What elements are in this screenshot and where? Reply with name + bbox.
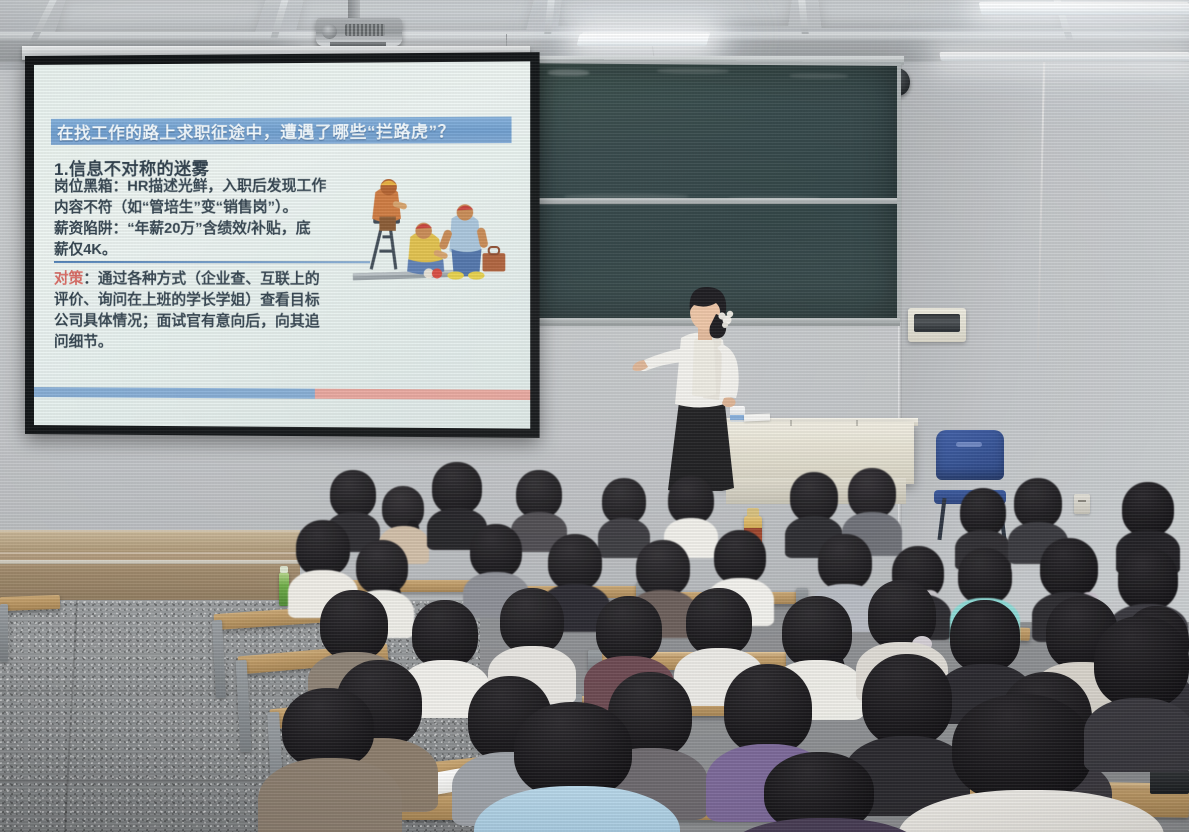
slide-counter-text: ：通过各种方式（企业查、互联上的 bbox=[83, 271, 319, 287]
projection-screen: 在找工作的路上求职征途中，遭遇了哪些“拦路虎”？ 1.信息不对称的迷雾 岗位黑箱… bbox=[25, 52, 540, 438]
lecture-hall-photo: 在找工作的路上求职征途中，遭遇了哪些“拦路虎”？ 1.信息不对称的迷雾 岗位黑箱… bbox=[0, 0, 1189, 832]
ceiling-panel bbox=[54, 0, 265, 34]
slide-title-text: 在找工作的路上求职征途中，遭遇了哪些“拦路虎”？ bbox=[51, 118, 455, 144]
blackboard bbox=[529, 59, 901, 325]
slide-body: 岗位黑箱：HR描述光鲜，入职后发现工作 内容不符（如“管培生”变“销售岗”）。 … bbox=[54, 176, 368, 261]
ceiling-panel bbox=[558, 0, 792, 26]
fluorescent-light bbox=[577, 34, 710, 46]
podium-seam bbox=[856, 420, 858, 426]
student bbox=[1094, 616, 1189, 756]
wainscot-rail bbox=[0, 560, 300, 564]
student bbox=[744, 752, 904, 832]
bottle-cap-icon bbox=[280, 566, 288, 573]
slide-footer-band-pink bbox=[315, 389, 530, 400]
slide-body-line: 岗位黑箱：HR描述光鲜，入职后发现工作 bbox=[54, 176, 368, 198]
electrical-panel-window bbox=[914, 314, 960, 332]
slide-counter-line: 公司具体情况；面试官有意向后，向其追 bbox=[54, 311, 376, 333]
slide-counter-line: 问细节。 bbox=[54, 332, 376, 354]
bottle-cap-icon bbox=[747, 508, 759, 517]
slide-body-line: 薪资陷阱：“年薪20万”含绩效/补贴，底 bbox=[54, 219, 368, 240]
fluorescent-light bbox=[939, 52, 1189, 61]
slide-countermeasure: 对策：通过各种方式（企业查、互联上的 评价、询问在上班的学长学姐）查看目标 公司… bbox=[54, 269, 376, 354]
slide-counter-line: 评价、询问在上班的学长学姐）查看目标 bbox=[54, 290, 376, 312]
podium-seam bbox=[790, 420, 792, 426]
projector-mount bbox=[348, 0, 360, 20]
power-outlet bbox=[1074, 494, 1090, 514]
projector-vent bbox=[345, 24, 385, 36]
slide-footer bbox=[34, 387, 530, 400]
slide-body-line: 薪仅4K。 bbox=[54, 240, 368, 261]
chair-handle bbox=[956, 442, 982, 447]
slide-footer-band-blue bbox=[34, 387, 315, 399]
spare-chair[interactable] bbox=[936, 430, 1004, 480]
presentation-slide: 在找工作的路上求职征途中，遭遇了哪些“拦路虎”？ 1.信息不对称的迷雾 岗位黑箱… bbox=[34, 61, 530, 428]
student bbox=[492, 702, 662, 832]
student bbox=[268, 688, 388, 832]
instructor bbox=[624, 286, 774, 486]
slide-counter-line: 对策：通过各种方式（企业查、互联上的 bbox=[54, 269, 376, 291]
slide-title-bar: 在找工作的路上求职征途中，遭遇了哪些“拦路虎”？ bbox=[51, 117, 512, 145]
slide-body-line: 内容不符（如“管培生”变“销售岗”）。 bbox=[54, 197, 368, 219]
slide-divider bbox=[54, 261, 370, 263]
desk bbox=[0, 595, 60, 611]
projector-lens-icon bbox=[322, 24, 337, 39]
desk-frame bbox=[0, 604, 8, 662]
fluorescent-light bbox=[979, 2, 1189, 15]
laptop-dark[interactable] bbox=[1150, 770, 1189, 794]
slide-illustration bbox=[349, 159, 514, 292]
slide-counter-keyword: 对策 bbox=[54, 271, 83, 287]
blackboard-split-rail bbox=[533, 198, 897, 204]
